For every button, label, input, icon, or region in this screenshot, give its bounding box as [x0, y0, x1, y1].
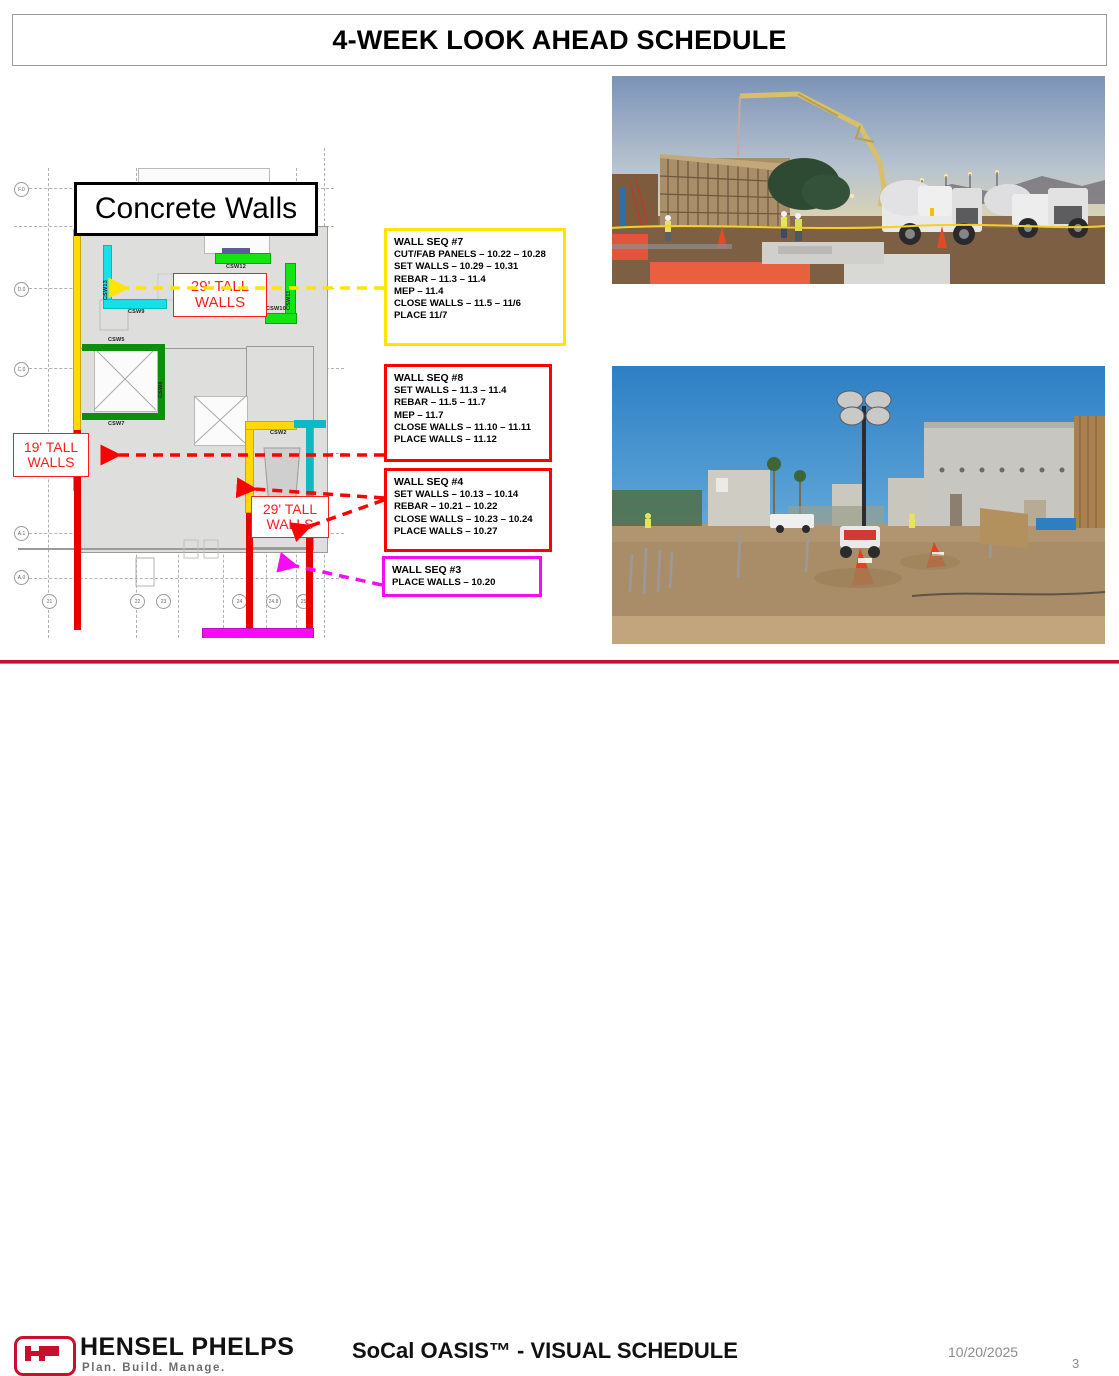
callout-line: PLACE WALLS – 10.20	[392, 577, 532, 589]
callout-title: WALL SEQ #8	[394, 372, 542, 384]
hp-monogram	[25, 1346, 59, 1361]
callout-line: CLOSE WALLS – 10.23 – 10.24	[394, 514, 542, 526]
label-29ft-tall-walls-lower: 29' TALL WALLS	[251, 496, 329, 538]
callout-title: WALL SEQ #3	[392, 564, 532, 576]
wall-marker	[222, 248, 250, 253]
grid-bubble: A.1	[14, 526, 29, 541]
callout-line: REBAR – 10.21 – 10.22	[394, 501, 542, 513]
callout-line: REBAR – 11.3 – 11.4	[394, 274, 556, 286]
label-19ft-tall-walls: 19' TALL WALLS	[13, 433, 89, 477]
footer-center-title: SoCal OASIS™ - VISUAL SCHEDULE	[352, 1338, 738, 1364]
wall-tag-csw8: CSW8	[158, 381, 164, 398]
callout-wall-seq-7: WALL SEQ #7 CUT/FAB PANELS – 10.22 – 10.…	[384, 228, 566, 346]
slide: 4-WEEK LOOK AHEAD SCHEDULE	[0, 0, 1119, 723]
callout-line: MEP – 11.7	[394, 410, 542, 422]
callout-line: SET WALLS – 11.3 – 11.4	[394, 385, 542, 397]
callout-line: REBAR – 11.5 – 11.7	[394, 397, 542, 409]
wall-csw12	[216, 254, 270, 263]
callout-line: CLOSE WALLS – 11.10 – 11.11	[394, 422, 542, 434]
slide-date: 10/20/2025	[948, 1344, 1018, 1360]
callout-line: PLACE 11/7	[394, 310, 556, 322]
photo-concrete-pump-placement	[612, 76, 1105, 284]
grid-bubble: D.0	[14, 282, 29, 297]
callout-wall-seq-4: WALL SEQ #4 SET WALLS – 10.13 – 10.14 RE…	[384, 468, 552, 552]
callout-wall-seq-3: WALL SEQ #3 PLACE WALLS – 10.20	[382, 556, 542, 597]
callout-line: PLACE WALLS – 11.12	[394, 434, 542, 446]
grid-bubble: 24	[232, 594, 247, 609]
callout-title: WALL SEQ #4	[394, 476, 542, 488]
wall-tag-csw13: CSW13	[103, 280, 109, 300]
callout-line: CLOSE WALLS – 11.5 – 11/6	[394, 298, 556, 310]
grid-bubble: 22	[130, 594, 145, 609]
wall-tag-csw11: CSW11	[286, 290, 292, 310]
wall-csw7	[82, 413, 164, 420]
photo-tilt-up-panels-erected	[612, 366, 1105, 644]
wall-tag-csw5: CSW5	[108, 337, 125, 343]
wall-csw10	[266, 314, 296, 323]
concrete-walls-heading: Concrete Walls	[74, 182, 318, 236]
wall-tag-csw2: CSW2	[270, 430, 287, 436]
wall-tag-csw10: CSW10	[266, 306, 286, 312]
footer: HENSEL PHELPS Plan. Build. Manage. SoCal…	[0, 664, 1119, 723]
grid-bubble: 24.8	[266, 594, 281, 609]
callout-line: SET WALLS – 10.13 – 10.14	[394, 489, 542, 501]
wall-csw5	[82, 344, 164, 351]
grid-bubble: C.0	[14, 362, 29, 377]
callout-line: PLACE WALLS – 10.27	[394, 526, 542, 538]
slide-page-number: 3	[1072, 1356, 1079, 1371]
callout-wall-seq-8: WALL SEQ #8 SET WALLS – 11.3 – 11.4 REBA…	[384, 364, 552, 462]
wall-tag-csw9: CSW9	[128, 309, 145, 315]
callout-title: WALL SEQ #7	[394, 236, 556, 248]
plan-detail-lines	[8, 78, 594, 638]
callout-line: CUT/FAB PANELS – 10.22 – 10.28	[394, 249, 556, 261]
wall-csw4	[203, 629, 313, 638]
wall-tag-csw7: CSW7	[108, 421, 125, 427]
wall-csw9	[104, 300, 166, 308]
hensel-phelps-hp-logo-icon	[14, 1336, 76, 1376]
wall-csw2-yellow-top	[246, 422, 296, 429]
grid-bubble: A.0	[14, 570, 29, 585]
company-name: HENSEL PHELPS	[80, 1333, 294, 1362]
floor-plan-panel: 21 22 23 24 24.8 25 F.0 D.0 C.0 B.0 A.1 …	[8, 78, 594, 638]
grid-bubble: F.0	[14, 182, 29, 197]
callout-line: SET WALLS – 10.29 – 10.31	[394, 261, 556, 273]
company-tagline: Plan. Build. Manage.	[82, 1362, 226, 1374]
callout-line: MEP – 11.4	[394, 286, 556, 298]
page-title: 4-WEEK LOOK AHEAD SCHEDULE	[332, 25, 786, 56]
floor-plan-canvas: 21 22 23 24 24.8 25 F.0 D.0 C.0 B.0 A.1 …	[8, 78, 594, 638]
grid-bubble: 21	[42, 594, 57, 609]
grid-bubble: 23	[156, 594, 171, 609]
slide-title-box: 4-WEEK LOOK AHEAD SCHEDULE	[12, 14, 1107, 66]
label-29ft-tall-walls-upper: 29' TALL WALLS	[173, 273, 267, 317]
wall-tag-csw12: CSW12	[226, 264, 246, 270]
